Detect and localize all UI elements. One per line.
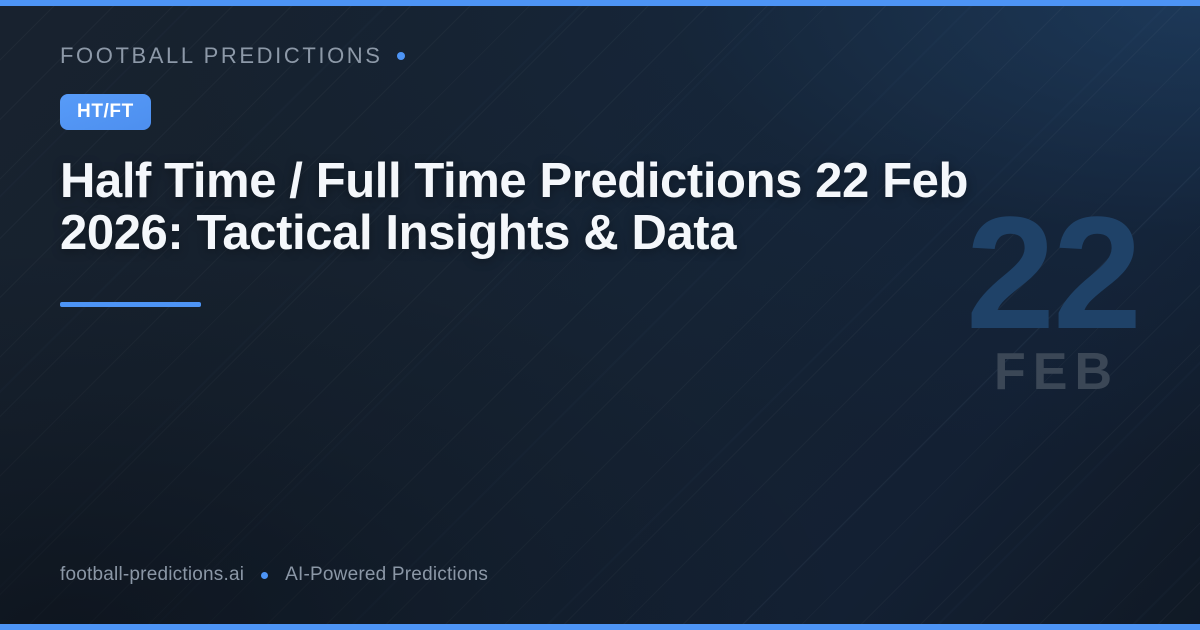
footer-tagline: AI-Powered Predictions <box>285 564 488 586</box>
share-card: 22 FEB FOOTBALL PREDICTIONS HT/FT Half T… <box>0 0 1200 630</box>
bullet-dot-icon <box>261 572 268 579</box>
bottom-accent-bar <box>0 624 1200 630</box>
footer: football-predictions.ai AI-Powered Predi… <box>60 564 488 586</box>
page-title: Half Time / Full Time Predictions 22 Feb… <box>60 156 995 260</box>
eyebrow-row: FOOTBALL PREDICTIONS <box>60 40 1040 72</box>
eyebrow-label: FOOTBALL PREDICTIONS <box>60 43 383 69</box>
card-content: FOOTBALL PREDICTIONS HT/FT Half Time / F… <box>60 40 1040 307</box>
category-badge: HT/FT <box>60 94 151 130</box>
bullet-dot-icon <box>397 52 405 60</box>
footer-site: football-predictions.ai <box>60 564 244 586</box>
top-accent-bar <box>0 0 1200 6</box>
accent-rule <box>60 302 201 307</box>
